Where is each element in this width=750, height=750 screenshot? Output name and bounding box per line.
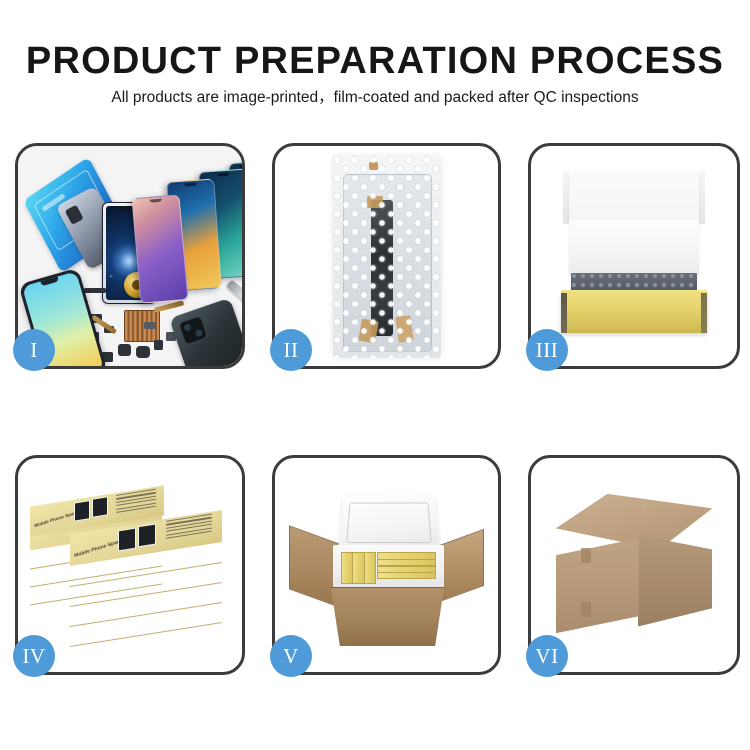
panel-step-1: I — [15, 143, 245, 369]
panel-step-6: VI — [528, 455, 740, 675]
panel-step-3-image — [531, 146, 737, 366]
camera-cutout — [178, 315, 209, 346]
panel-step-2-image — [275, 146, 498, 366]
panel-step-5: V — [272, 455, 501, 675]
step-badge-1: I — [13, 329, 55, 371]
phone-back-housing — [169, 298, 242, 366]
part-camera — [118, 344, 131, 356]
step-badge-3: III — [526, 329, 568, 371]
inner-box — [364, 552, 377, 584]
step-badge-2: II — [270, 329, 312, 371]
step-badge-6: VI — [526, 635, 568, 677]
carton-tape-lower — [581, 602, 592, 617]
label-screen-thumb — [92, 496, 108, 518]
carton-body — [331, 587, 444, 646]
part-strip — [84, 288, 106, 293]
foam-sheet — [569, 220, 698, 276]
label-screen-thumb — [118, 528, 136, 552]
label-screen-thumb — [74, 500, 90, 522]
sealed-carton — [545, 484, 723, 648]
carton-tape-upper — [581, 548, 592, 563]
carton-side-face — [638, 535, 713, 627]
part-chip — [154, 340, 163, 350]
panel-step-3: III — [528, 143, 740, 369]
label-screen-thumb — [138, 523, 156, 547]
process-step-grid: I II — [0, 0, 750, 750]
bubble-texture — [333, 156, 441, 358]
box-body — [561, 293, 707, 333]
panel-step-5-image — [275, 458, 498, 672]
panel-step-2: II — [272, 143, 501, 369]
panel-step-6-image — [531, 458, 737, 672]
inner-box — [377, 572, 436, 579]
styrofoam-lid — [338, 495, 439, 551]
box-stack: Mobile Phone Spare Parts Mobile Phone Sp… — [28, 478, 232, 654]
carton-front-face — [556, 538, 640, 633]
part-module — [136, 346, 150, 358]
panel-step-4: Mobile Phone Spare Parts Mobile Phone Sp… — [15, 455, 245, 675]
panel-step-1-image — [18, 146, 242, 366]
phone-1 — [131, 194, 188, 304]
panel-step-4-image: Mobile Phone Spare Parts Mobile Phone Sp… — [18, 458, 242, 672]
carton-with-foam-case — [287, 480, 486, 652]
part-chip — [144, 322, 156, 329]
open-inner-box — [549, 170, 719, 336]
inner-box-row — [341, 551, 437, 584]
step-badge-5: V — [270, 635, 312, 677]
bubble-wrap-bag — [333, 156, 441, 358]
step-badge-4: IV — [13, 635, 55, 677]
